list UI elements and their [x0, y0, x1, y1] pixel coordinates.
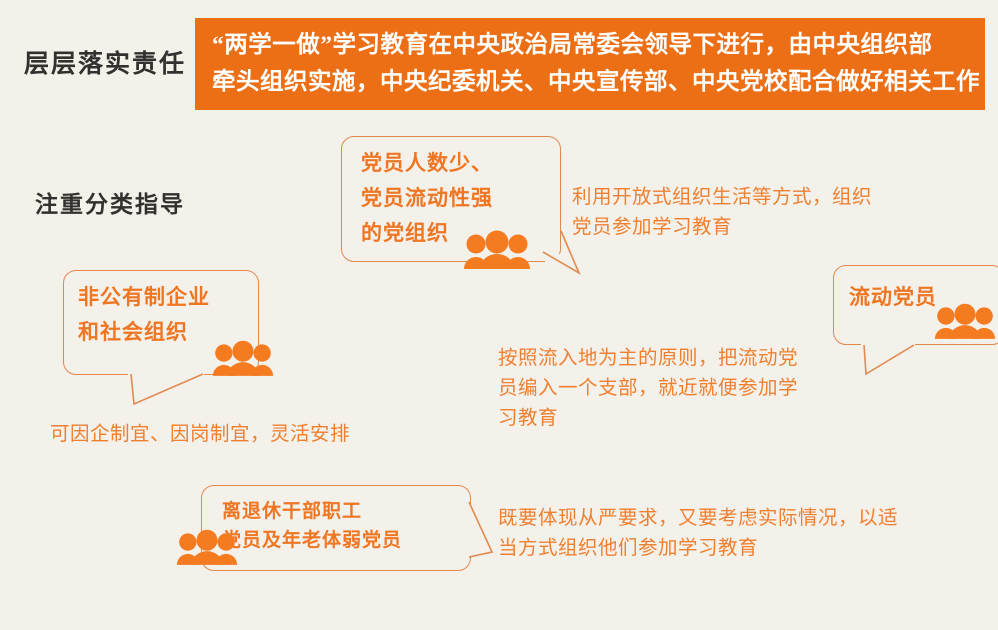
bubble-4-line-1: 离退休干部职工	[222, 497, 402, 526]
note-4-line-1: 既要体现从严要求，又要考虑实际情况，以适	[498, 503, 898, 533]
bubble-4-label: 离退休干部职工 党员及年老体弱党员	[222, 497, 402, 555]
note-4-line-2: 当方式组织他们参加学习教育	[498, 533, 898, 563]
infographic-canvas: 层层落实责任 “两学一做”学习教育在中央政治局常委会领导下进行，由中央组织部 牵…	[0, 0, 998, 630]
note-retired-and-elderly: 既要体现从严要求，又要考虑实际情况，以适 当方式组织他们参加学习教育	[498, 503, 898, 563]
bubble-4-line-2: 党员及年老体弱党员	[222, 526, 402, 555]
people-group-icon	[176, 529, 238, 566]
